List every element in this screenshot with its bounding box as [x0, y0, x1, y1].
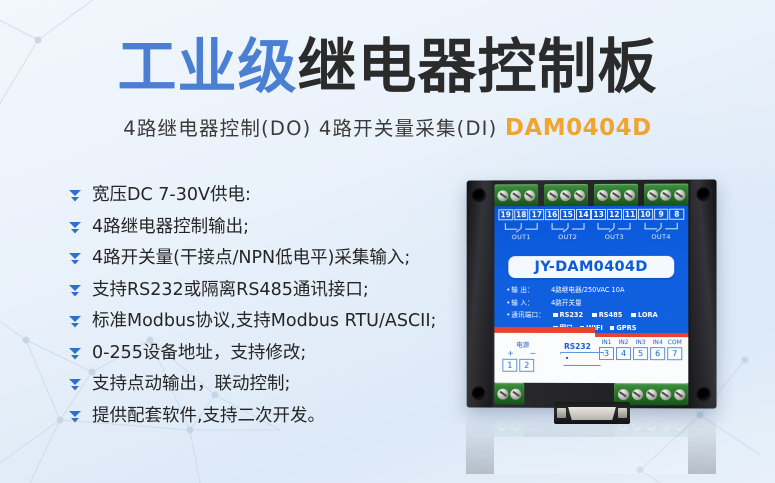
double-chevron-down-icon — [68, 313, 82, 331]
terminal-number: 6 — [650, 347, 665, 360]
terminal-number: 10 — [638, 209, 653, 220]
screw-icon — [510, 421, 521, 432]
housing-rail-left — [467, 180, 493, 407]
relay-symbol — [498, 221, 544, 232]
output-label: OUT2 — [545, 233, 591, 241]
reflection-face — [494, 437, 688, 474]
input-label: IN1 — [599, 339, 614, 346]
input-label: COM — [667, 339, 682, 346]
power-polarity: + − — [507, 349, 543, 358]
mounting-hole-icon — [696, 186, 711, 201]
bottom-terminal-map: 电源 + − 1 2 RS232 IN1 IN2 — [494, 337, 688, 383]
output-group: 16 15 14 OUT2 — [545, 209, 591, 241]
checkbox-option: LORA — [631, 310, 657, 320]
screw-icon — [561, 190, 572, 201]
double-chevron-down-icon — [68, 187, 82, 205]
output-label: OUT1 — [498, 233, 544, 241]
screw-icon — [632, 389, 643, 400]
comm-label: 通讯端口： — [511, 310, 553, 320]
rs232-label: RS232 — [564, 342, 591, 351]
list-item-label: 4路继电器控制输出; — [92, 216, 249, 238]
page-title: 工业级继电器控制板 — [0, 36, 775, 98]
power-section: 电源 + − 1 2 — [502, 339, 543, 372]
checkbox-label: GPRS — [616, 323, 636, 333]
terminal-number: 14 — [576, 209, 591, 220]
screw-icon — [674, 421, 685, 432]
list-item-label: 宽压DC 7-30V供电: — [92, 184, 251, 206]
screw-icon — [661, 189, 672, 200]
terminal-number: 9 — [654, 209, 669, 220]
list-item-label: 0-255设备地址，支持修改; — [92, 342, 306, 364]
checkbox-option: GPRS — [610, 323, 637, 333]
list-item-label: 支持点动输出，联动控制; — [92, 373, 290, 395]
model-badge: JY-DAM0404D — [508, 256, 674, 278]
double-chevron-down-icon — [68, 219, 82, 237]
relay-symbol — [638, 221, 684, 232]
list-item: 标准Modbus协议,支持Modbus RTU/ASCII; — [68, 310, 488, 332]
screw-icon — [660, 421, 671, 432]
screw-icon — [498, 190, 509, 201]
list-item: 提供配套软件,支持二次开发。 — [68, 405, 488, 427]
checkbox-icon — [631, 313, 636, 318]
list-item-label: 标准Modbus协议,支持Modbus RTU/ASCII; — [92, 310, 436, 332]
screw-icon — [511, 190, 522, 201]
screw-icon — [646, 389, 657, 400]
terminal-block — [594, 184, 638, 206]
headline-block: 工业级继电器控制板 4路继电器控制(DO) 4路开关量采集(DI) DAM040… — [0, 36, 775, 141]
terminal-block — [544, 184, 588, 206]
terminal-number: 17 — [530, 209, 545, 220]
mounting-hole-icon — [472, 386, 487, 401]
subtitle-model: DAM0404D — [505, 115, 652, 141]
spec-key: 输 入： — [511, 297, 551, 307]
spec-row: • 输 出： 4路继电器/250VAC 10A — [506, 285, 680, 295]
list-item: 4路继电器控制输出; — [68, 216, 488, 238]
relay-control-board: 19 18 17 OUT1 16 15 14 — [467, 179, 717, 408]
checkbox-option: RS232 — [553, 310, 583, 320]
comm-options-row-1: RS232 RS485 LORA — [553, 310, 665, 320]
db9-pin-dot-icon — [566, 357, 568, 359]
checkbox-icon — [610, 326, 615, 331]
screw-icon — [610, 189, 621, 200]
list-item: 支持点动输出，联动控制; — [68, 373, 488, 395]
double-chevron-down-icon — [68, 345, 82, 363]
spec-row-comm: • 通讯端口： RS232 RS485 LORA — [506, 310, 680, 320]
terminal-number: 18 — [514, 209, 529, 220]
relay-symbol — [591, 221, 637, 232]
housing-rail-right — [690, 179, 716, 408]
spec-row: • 输 入： 4路开关量 — [506, 297, 680, 307]
output-label: OUT4 — [638, 233, 684, 241]
screw-icon — [497, 388, 508, 399]
mounting-hole-icon — [696, 386, 711, 401]
reflection-white — [494, 437, 688, 474]
banner-background: 工业级继电器控制板 4路继电器控制(DO) 4路开关量采集(DI) DAM040… — [0, 0, 775, 483]
model-badge-label: JY-DAM0404D — [535, 259, 648, 275]
terminal-number: 7 — [667, 347, 682, 360]
red-wedge — [494, 327, 594, 333]
product-image: 19 18 17 OUT1 16 15 14 — [466, 180, 716, 480]
list-item-label: 提供配套软件,支持二次开发。 — [92, 405, 325, 427]
spec-value: 4路开关量 — [551, 297, 582, 307]
terminal-number: 8 — [670, 209, 685, 220]
title-highlight: 工业级 — [117, 32, 297, 101]
input-label: IN4 — [650, 339, 665, 346]
terminal-block — [644, 184, 688, 206]
screw-icon — [674, 189, 685, 200]
terminal-number: 5 — [633, 347, 648, 360]
terminal-number: 13 — [591, 209, 606, 220]
input-label: IN3 — [633, 339, 648, 346]
screw-icon — [597, 189, 608, 200]
input-terminals: 3 4 5 6 7 — [599, 347, 682, 360]
power-terminals: 1 2 — [502, 359, 543, 372]
terminal-number: 2 — [519, 359, 534, 372]
mounting-hole-icon — [472, 187, 487, 202]
reflection-content — [466, 412, 716, 474]
feature-list: 宽压DC 7-30V供电: 4路继电器控制输出; 4路开关量(干接点/NPN低电… — [68, 184, 488, 436]
subtitle: 4路继电器控制(DO) 4路开关量采集(DI) DAM0404D — [0, 112, 775, 141]
output-group: 19 18 17 OUT1 — [498, 209, 544, 241]
screw-icon — [618, 389, 629, 400]
terminal-number: 15 — [560, 209, 575, 220]
double-chevron-down-icon — [68, 250, 82, 268]
screw-icon — [646, 421, 657, 432]
terminal-block — [614, 415, 688, 437]
terminal-number: 4 — [616, 347, 631, 360]
double-chevron-down-icon — [68, 376, 82, 394]
checkbox-label: RS232 — [560, 310, 584, 320]
list-item: 支持RS232或隔离RS485通讯接口; — [68, 279, 488, 301]
screw-icon — [510, 388, 521, 399]
spec-key: 输 出： — [511, 285, 551, 295]
screw-icon — [647, 189, 658, 200]
terminal-number: 12 — [607, 209, 622, 220]
db9-outline-icon — [560, 352, 604, 366]
screw-icon — [618, 421, 629, 432]
checkbox-label: RS485 — [599, 310, 623, 320]
checkbox-option: RS485 — [592, 310, 622, 320]
terminal-number: 16 — [545, 209, 560, 220]
list-item: 宽压DC 7-30V供电: — [68, 184, 488, 206]
terminal-blocks-top — [494, 184, 688, 207]
terminal-number: 11 — [623, 209, 638, 220]
subtitle-text: 4路继电器控制(DO) 4路开关量采集(DI) — [123, 117, 497, 140]
terminal-block — [494, 383, 524, 405]
spec-value: 4路继电器/250VAC 10A — [551, 285, 624, 295]
output-label: OUT3 — [591, 233, 637, 241]
power-label: 电源 — [502, 339, 543, 349]
screw-icon — [632, 421, 643, 432]
checkbox-icon — [592, 313, 596, 318]
title-main: 继电器控制板 — [298, 32, 658, 101]
screw-icon — [674, 389, 685, 400]
board-face-label: 19 18 17 OUT1 16 15 14 — [494, 206, 688, 384]
terminal-number: 3 — [599, 347, 614, 360]
screw-icon — [524, 190, 535, 201]
output-group: 13 12 11 OUT3 — [591, 209, 637, 241]
screw-icon — [660, 389, 671, 400]
input-section: IN1 IN2 IN3 IN4 COM 3 4 5 6 7 — [599, 339, 682, 360]
list-item-label: 4路开关量(干接点/NPN低电平)采集输入; — [92, 247, 410, 269]
input-label: IN2 — [616, 339, 631, 346]
list-item: 0-255设备地址，支持修改; — [68, 342, 488, 364]
reflection-terminals — [494, 415, 688, 437]
screw-icon — [624, 189, 635, 200]
terminal-number: 19 — [498, 209, 513, 220]
output-terminal-map: 19 18 17 OUT1 16 15 14 — [498, 209, 684, 241]
screw-icon — [497, 421, 508, 432]
list-item-label: 支持RS232或隔离RS485通讯接口; — [92, 279, 369, 301]
terminal-number: 1 — [502, 359, 517, 372]
double-chevron-down-icon — [68, 282, 82, 300]
screw-icon — [574, 190, 585, 201]
output-group: 10 9 8 OUT4 — [638, 209, 684, 241]
list-item: 4路开关量(干接点/NPN低电平)采集输入; — [68, 247, 488, 269]
terminal-block — [494, 415, 524, 437]
board-reflection — [466, 412, 716, 474]
checkbox-label: LORA — [638, 310, 658, 320]
checkbox-icon — [553, 313, 557, 317]
relay-symbol — [545, 221, 591, 232]
double-chevron-down-icon — [68, 408, 82, 426]
terminal-block — [494, 184, 538, 206]
screw-icon — [547, 190, 558, 201]
input-labels: IN1 IN2 IN3 IN4 COM — [599, 339, 682, 346]
